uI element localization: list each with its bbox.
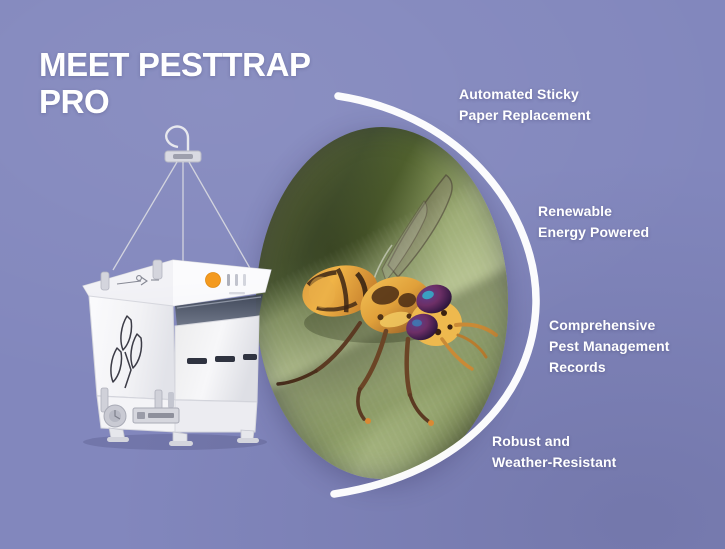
feature-weather-resistant: Robust and Weather-Resistant (492, 431, 707, 473)
pesttrap-device (55, 120, 295, 450)
feature-automated-sticky-paper: Automated Sticky Paper Replacement (459, 84, 689, 126)
hanger-hook (166, 127, 188, 151)
device-nameplate (133, 408, 179, 423)
feature-pest-records: Comprehensive Pest Management Records (549, 315, 724, 378)
hanger-cables (113, 162, 251, 270)
lid-clip-left (101, 272, 109, 290)
device-drawer-right (175, 400, 257, 432)
feature-renewable-energy: Renewable Energy Powered (538, 201, 723, 243)
device-dial (104, 405, 126, 427)
page-title: MEET PESTTRAP PRO (39, 46, 369, 120)
lid-clip-center (153, 260, 162, 279)
poster-canvas: MEET PESTTRAP PRO Automated Sticky Paper… (0, 0, 725, 549)
